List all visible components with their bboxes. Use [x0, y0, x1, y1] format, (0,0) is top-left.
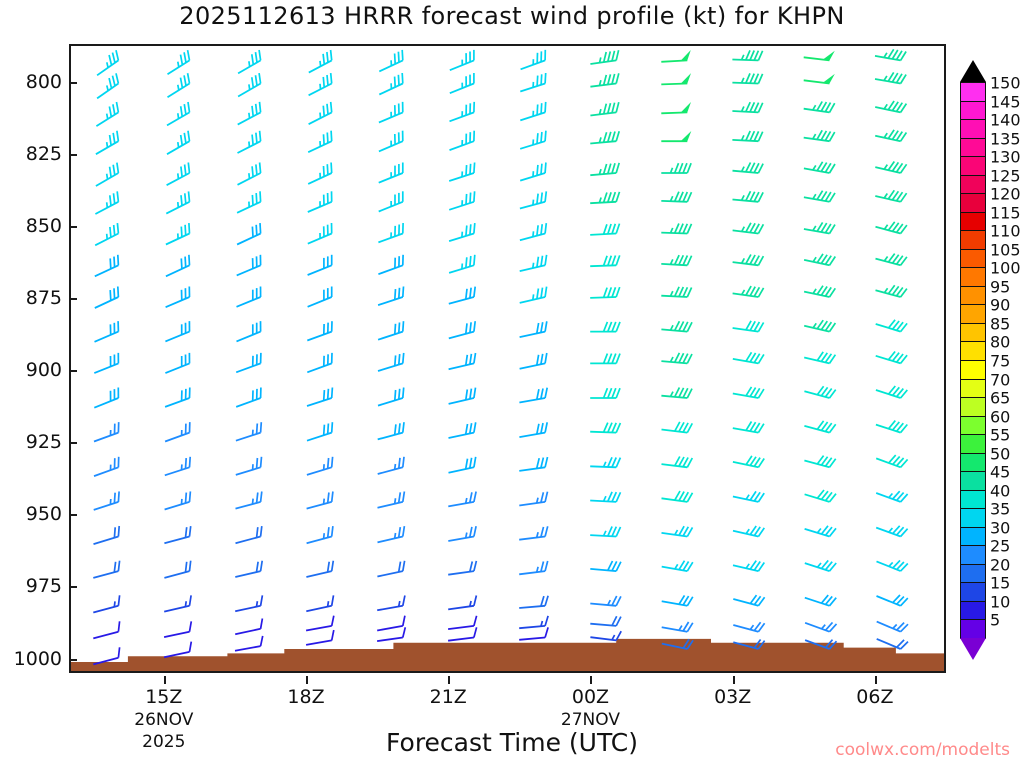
y-axis-labels: 8008258508759009259509751000 — [0, 44, 62, 673]
barb-column-06.5Z — [875, 49, 908, 649]
y-tick-label-950: 950 — [26, 503, 62, 525]
colorbar-label-125: 125 — [990, 166, 1021, 185]
colorbar-label-20: 20 — [990, 555, 1010, 574]
colorbar-label-10: 10 — [990, 592, 1010, 611]
barb-column-21.5Z — [448, 50, 477, 641]
colorbar-swatch-50 — [960, 453, 986, 473]
x-tick-mark-18Z — [306, 676, 308, 684]
y-tick-label-900: 900 — [26, 359, 62, 381]
colorbar-swatch-140 — [960, 119, 986, 139]
colorbar-label-50: 50 — [990, 444, 1010, 463]
colorbar-swatch-90 — [960, 304, 986, 324]
colorbar-swatch-20 — [960, 564, 986, 584]
colorbar-label-75: 75 — [990, 352, 1010, 371]
wind-barbs-svg — [71, 46, 944, 671]
page-title: 2025112613 HRRR forecast wind profile (k… — [0, 2, 1024, 30]
colorbar-swatch-105 — [960, 249, 986, 269]
x-tick-label-15Z: 15Z — [145, 686, 182, 708]
colorbar-label-40: 40 — [990, 481, 1010, 500]
colorbar-swatch-45 — [960, 471, 986, 491]
colorbar-swatch-135 — [960, 138, 986, 158]
colorbar-swatch-35 — [960, 508, 986, 528]
y-tick-label-1000: 1000 — [14, 648, 62, 670]
colorbar-swatch-115 — [960, 212, 986, 232]
colorbar-swatch-75 — [960, 360, 986, 380]
colorbar-swatch-70 — [960, 379, 986, 399]
colorbar-label-85: 85 — [990, 314, 1010, 333]
colorbar-label-120: 120 — [990, 185, 1021, 204]
colorbar-label-60: 60 — [990, 407, 1010, 426]
x-tick-mark-21Z — [448, 676, 450, 684]
x-tick-label-06Z: 06Z — [856, 686, 893, 708]
barb-column-20Z — [377, 50, 405, 641]
y-tick-label-875: 875 — [26, 287, 62, 309]
colorbar-swatch-145 — [960, 101, 986, 121]
colorbar-label-45: 45 — [990, 463, 1010, 482]
colorbar-label-105: 105 — [990, 240, 1021, 259]
y-tick-mark-800 — [69, 82, 77, 84]
colorbar-label-35: 35 — [990, 500, 1010, 519]
colorbar-swatch-120 — [960, 193, 986, 213]
x-tick-label-18Z: 18Z — [287, 686, 324, 708]
colorbar-swatch-125 — [960, 175, 986, 195]
colorbar-label-70: 70 — [990, 370, 1010, 389]
y-tick-mark-950 — [69, 514, 77, 516]
colorbar-label-90: 90 — [990, 296, 1010, 315]
colorbar-swatch-30 — [960, 527, 986, 547]
colorbar-swatch-60 — [960, 416, 986, 436]
colorbar-swatch-55 — [960, 434, 986, 454]
colorbar-swatch-10 — [960, 601, 986, 621]
colorbar-swatch-100 — [960, 267, 986, 287]
colorbar-label-5: 5 — [990, 611, 1000, 630]
colorbar-label-80: 80 — [990, 333, 1010, 352]
colorbar-label-110: 110 — [990, 222, 1021, 241]
colorbar-swatch-25 — [960, 545, 986, 565]
colorbar-swatch-15 — [960, 582, 986, 602]
wind-profile-chart: 2025112613 HRRR forecast wind profile (k… — [0, 0, 1024, 768]
barb-column-05Z — [804, 51, 837, 649]
barb-column-14Z — [93, 50, 119, 664]
x-tick-mark-00Z — [590, 676, 592, 684]
y-tick-mark-900 — [69, 370, 77, 372]
watermark: coolwx.com/modelts — [835, 740, 1010, 760]
y-tick-mark-1000 — [69, 659, 77, 661]
colorbar-under-arrow — [960, 638, 986, 660]
barb-column-23Z — [519, 50, 548, 640]
barb-column-00.5Z — [590, 50, 621, 640]
colorbar-label-135: 135 — [990, 129, 1021, 148]
colorbar-label-115: 115 — [990, 203, 1021, 222]
colorbar-swatch-95 — [960, 286, 986, 306]
x-tick-sublabel-27NOV: 27NOV — [561, 710, 620, 730]
colorbar-swatch-110 — [960, 230, 986, 250]
colorbar-label-55: 55 — [990, 426, 1010, 445]
y-tick-mark-875 — [69, 298, 77, 300]
colorbar-label-65: 65 — [990, 389, 1010, 408]
wind-barb-field — [71, 46, 944, 671]
y-tick-mark-925 — [69, 442, 77, 444]
y-tick-mark-825 — [69, 154, 77, 156]
colorbar-label-95: 95 — [990, 277, 1010, 296]
x-tick-mark-03Z — [733, 676, 735, 684]
colorbar-label-15: 15 — [990, 574, 1010, 593]
colorbar-swatch-130 — [960, 156, 986, 176]
colorbar-label-145: 145 — [990, 92, 1021, 111]
plot-area — [69, 44, 946, 673]
barb-column-02Z — [661, 50, 693, 649]
x-tick-sublabel-26NOV: 26NOV — [134, 710, 193, 730]
colorbar-swatch-5 — [960, 619, 986, 639]
colorbar-swatch-40 — [960, 490, 986, 510]
colorbar-swatch-80 — [960, 341, 986, 361]
x-tick-label-21Z: 21Z — [430, 686, 467, 708]
y-tick-label-850: 850 — [26, 215, 62, 237]
colorbar-label-25: 25 — [990, 537, 1010, 556]
y-tick-label-800: 800 — [26, 71, 62, 93]
barb-column-18.5Z — [306, 50, 334, 645]
x-tick-label-00Z: 00Z — [572, 686, 609, 708]
colorbar-swatch-85 — [960, 323, 986, 343]
x-tick-mark-06Z — [875, 676, 877, 684]
colorbar-over-arrow — [960, 60, 986, 82]
y-tick-mark-975 — [69, 586, 77, 588]
barb-column-17Z — [235, 50, 263, 651]
barb-column-03.5Z — [732, 50, 764, 649]
colorbar-label-140: 140 — [990, 111, 1021, 130]
barb-column-15.5Z — [164, 50, 191, 657]
y-tick-label-825: 825 — [26, 143, 62, 165]
colorbar-label-130: 130 — [990, 148, 1021, 167]
y-tick-label-975: 975 — [26, 575, 62, 597]
x-tick-label-03Z: 03Z — [714, 686, 751, 708]
y-tick-label-925: 925 — [26, 431, 62, 453]
y-tick-mark-850 — [69, 226, 77, 228]
colorbar-swatch-65 — [960, 397, 986, 417]
colorbar-label-100: 100 — [990, 259, 1021, 278]
colorbar-label-30: 30 — [990, 518, 1010, 537]
colorbar-swatch-150 — [960, 82, 986, 102]
colorbar-label-150: 150 — [990, 74, 1021, 93]
colorbar-legend: 1501451401351301251201151101051009590858… — [960, 82, 986, 638]
x-tick-mark-15Z — [164, 676, 166, 684]
